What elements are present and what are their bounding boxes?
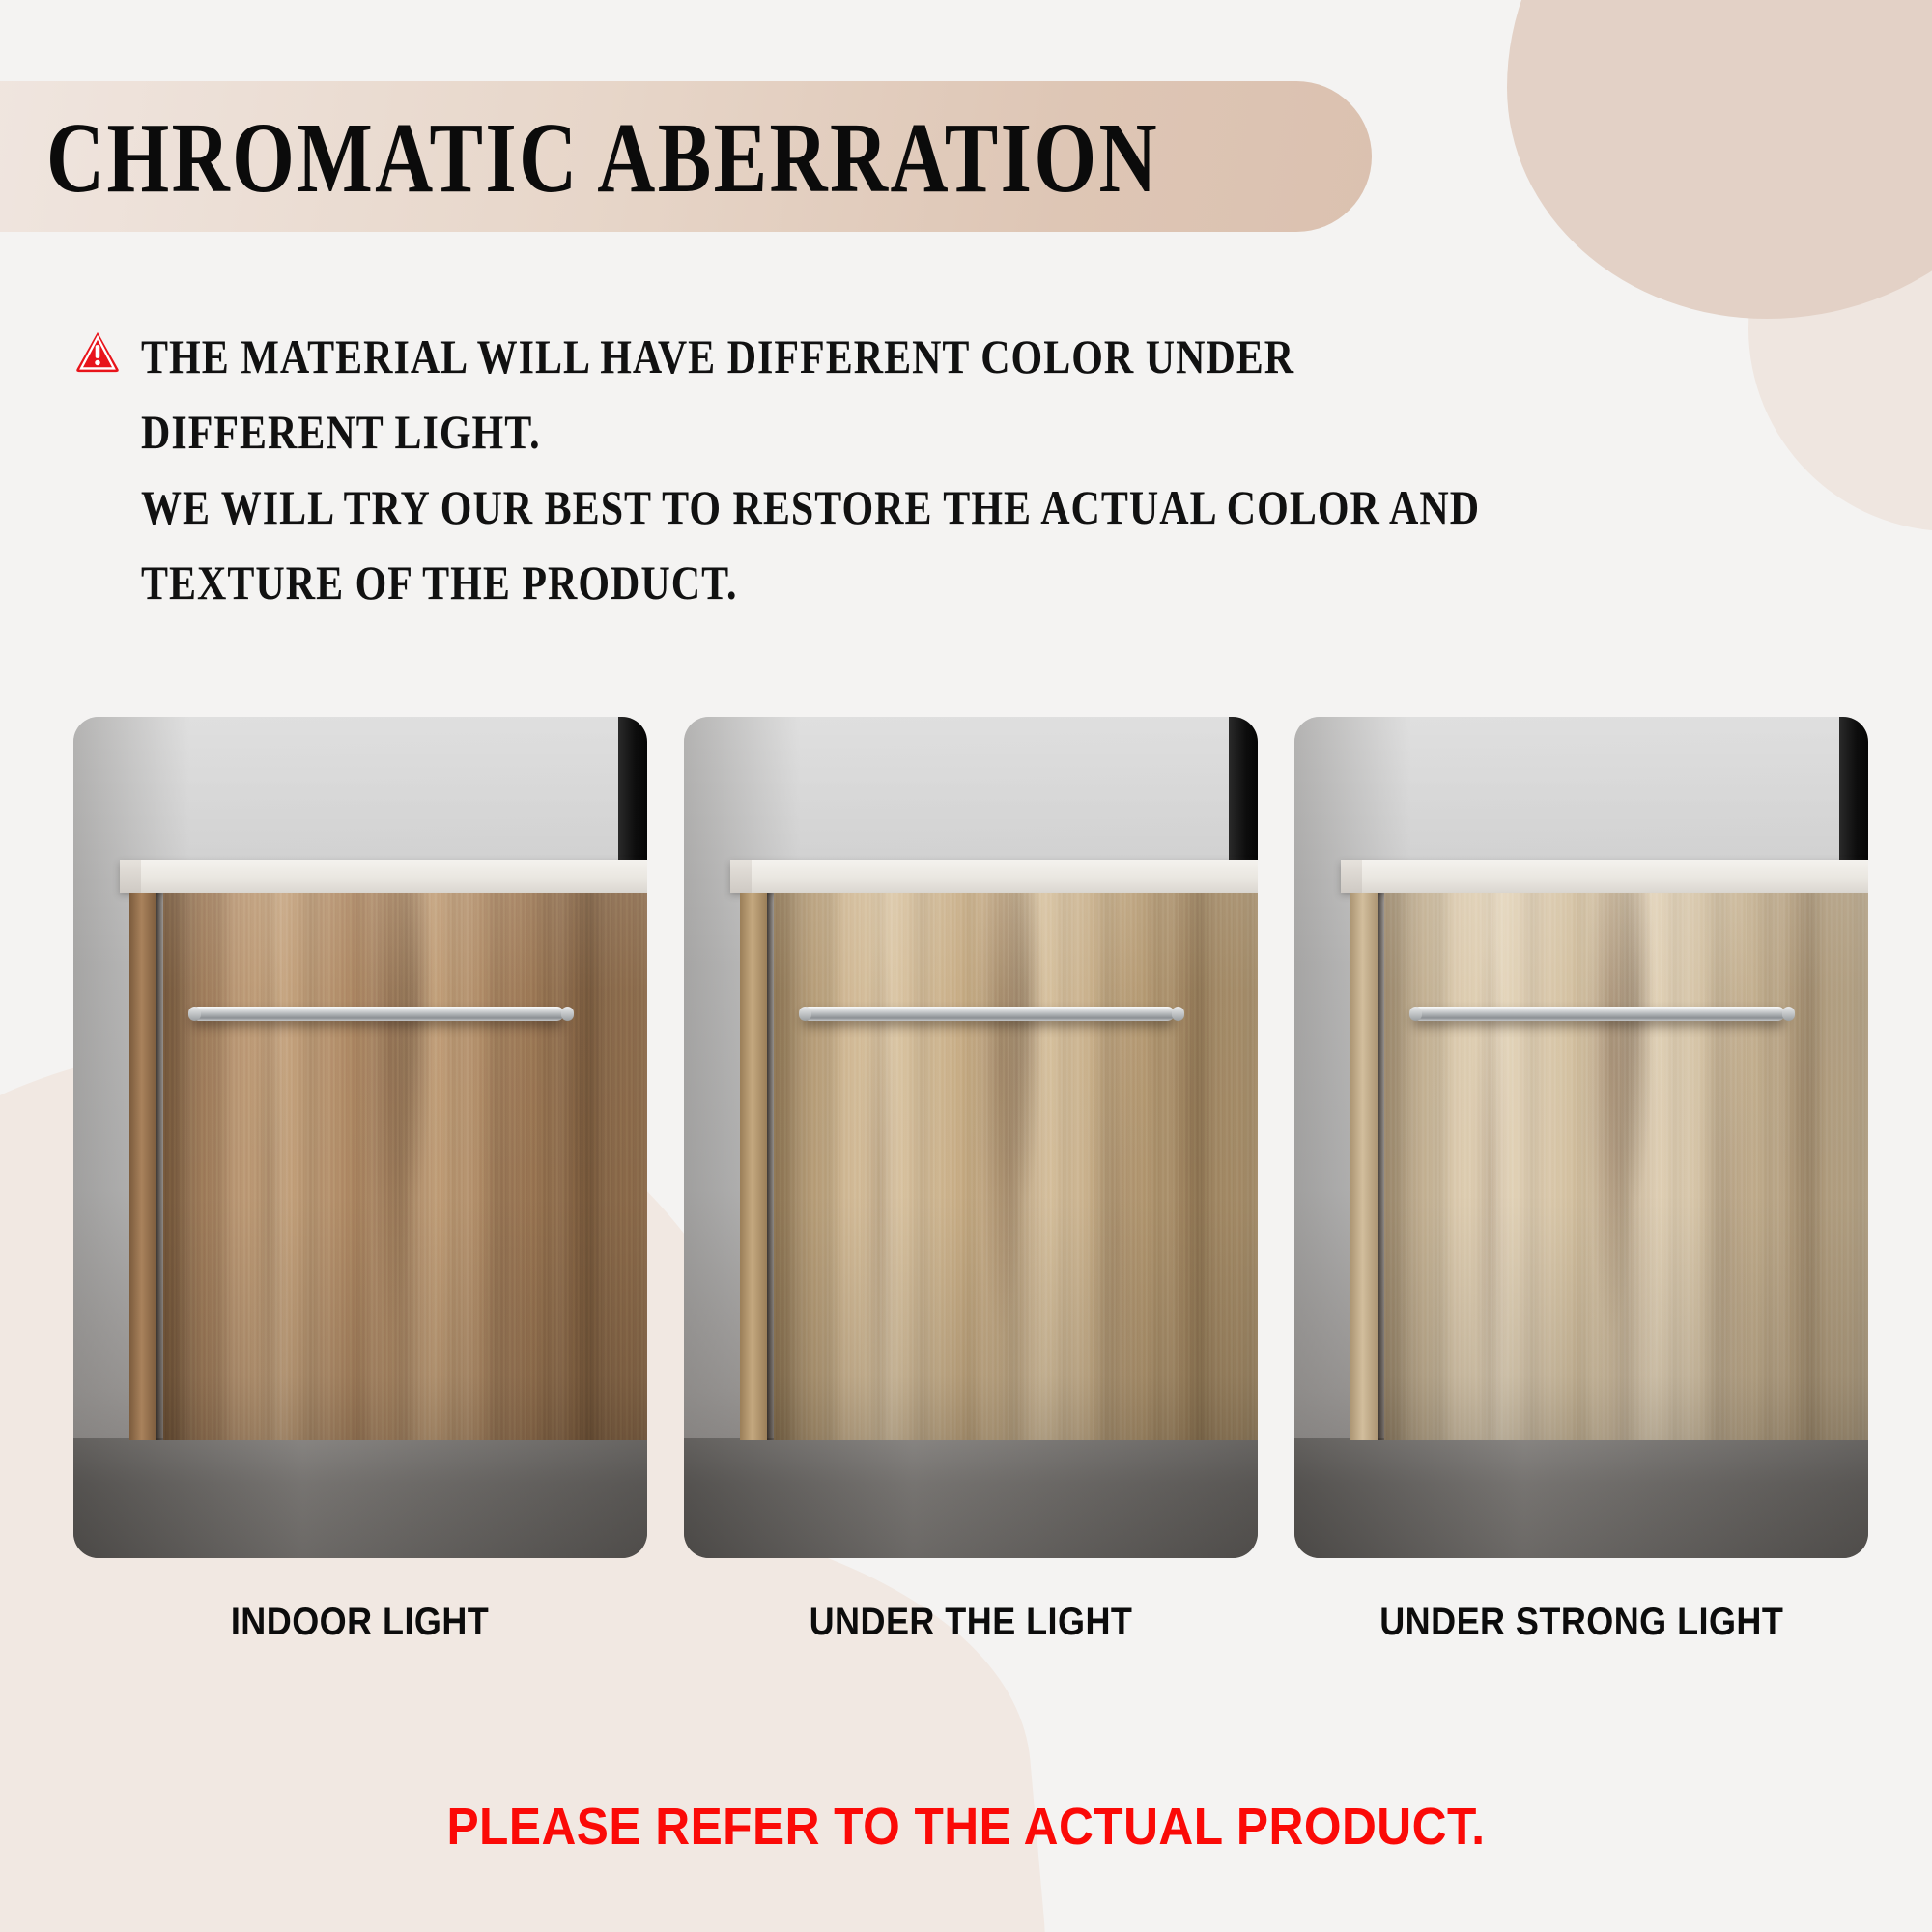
cabinet — [129, 893, 647, 1440]
black-edge-strip — [618, 717, 647, 860]
cabinet-handle[interactable] — [1412, 1007, 1785, 1021]
cabinet-door — [1384, 893, 1868, 1440]
cabinet-handle-cap-left — [188, 1007, 201, 1021]
cabinet-handle[interactable] — [802, 1007, 1175, 1021]
cabinet-door — [163, 893, 647, 1440]
cabinet-handle-cap-right — [561, 1007, 574, 1021]
footer-disclaimer: PLEASE REFER TO THE ACTUAL PRODUCT. — [77, 1797, 1855, 1857]
page-title: CHROMATIC ABERRATION — [46, 89, 1128, 226]
countertop-edge — [1341, 860, 1362, 893]
product-photo-under-strong-light[interactable] — [1294, 717, 1868, 1558]
door-reveal-gap — [1378, 893, 1384, 1440]
light-comparison-panels: INDOOR LIGHT — [73, 717, 1866, 1644]
warning-line-2: DIFFERENT LIGHT. — [141, 394, 1480, 469]
door-reveal-gap — [767, 893, 774, 1440]
wood-vertical-shading — [774, 893, 1258, 1440]
cabinet-handle-cap-left — [1409, 1007, 1422, 1021]
countertop-edge — [120, 860, 141, 893]
panel-column-indoor-light: INDOOR LIGHT — [73, 717, 647, 1644]
warning-text-lines: THE MATERIAL WILL HAVE DIFFERENT COLOR U… — [141, 319, 1735, 620]
background-blob-top-right — [1507, 0, 1932, 319]
wood-vertical-shading — [1384, 893, 1868, 1440]
floor-sheen — [73, 1438, 647, 1558]
cabinet-door — [774, 893, 1258, 1440]
warning-block: THE MATERIAL WILL HAVE DIFFERENT COLOR U… — [75, 319, 1718, 620]
countertop — [730, 860, 1258, 893]
countertop — [1341, 860, 1868, 893]
black-edge-strip — [1229, 717, 1258, 860]
floor-sheen — [1294, 1438, 1868, 1558]
warning-line-3: WE WILL TRY OUR BEST TO RESTORE THE ACTU… — [141, 469, 1480, 545]
product-photo-under-the-light[interactable] — [684, 717, 1258, 1558]
cabinet-handle-cap-right — [1172, 1007, 1184, 1021]
door-reveal-gap — [156, 893, 163, 1440]
cabinet — [740, 893, 1258, 1440]
warning-triangle-icon — [75, 330, 120, 373]
panel-column-under-strong-light: UNDER STRONG LIGHT — [1294, 717, 1868, 1644]
black-edge-strip — [1839, 717, 1868, 860]
cabinet-handle[interactable] — [191, 1007, 564, 1021]
infographic-canvas: CHROMATIC ABERRATION THE MATERIAL WILL H… — [0, 0, 1932, 1932]
wood-vertical-shading — [163, 893, 647, 1440]
panel-caption-indoor-light: INDOOR LIGHT — [231, 1601, 489, 1644]
cabinet-handle-cap-left — [799, 1007, 811, 1021]
panel-caption-under-strong-light: UNDER STRONG LIGHT — [1379, 1601, 1783, 1644]
panel-column-under-the-light: UNDER THE LIGHT — [684, 717, 1258, 1644]
warning-line-4: TEXTURE OF THE PRODUCT. — [141, 545, 1480, 620]
warning-line-1: THE MATERIAL WILL HAVE DIFFERENT COLOR U… — [141, 319, 1480, 394]
countertop — [120, 860, 647, 893]
countertop-edge — [730, 860, 752, 893]
cabinet-handle-cap-right — [1782, 1007, 1795, 1021]
product-photo-indoor-light[interactable] — [73, 717, 647, 1558]
floor-sheen — [684, 1438, 1258, 1558]
cabinet — [1350, 893, 1868, 1440]
panel-caption-under-the-light: UNDER THE LIGHT — [810, 1601, 1133, 1644]
